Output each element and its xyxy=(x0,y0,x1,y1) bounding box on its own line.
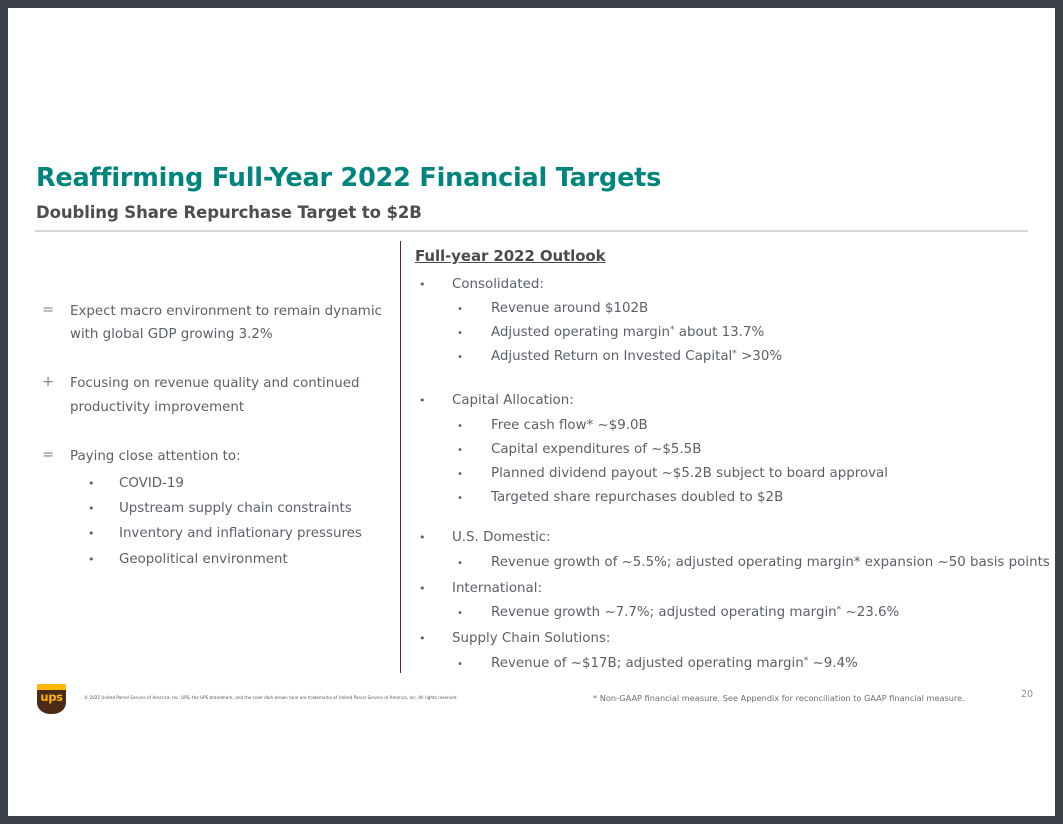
list-item: Upstream supply chain constraints xyxy=(88,499,394,520)
copyright-notice: © 2022 United Parcel Service of America,… xyxy=(84,695,458,700)
bullet-dot-icon xyxy=(453,608,491,619)
list-item: Capital expenditures of ~$5.5B xyxy=(453,439,1051,460)
equals-marker-icon: = xyxy=(36,445,70,467)
list-item-label: Capital expenditures of ~$5.5B xyxy=(491,439,1051,460)
spacer xyxy=(415,510,1051,527)
equals-marker-icon: = xyxy=(36,300,70,322)
list-item: Revenue growth ~7.7%; adjusted operating… xyxy=(453,602,1051,623)
group-supply-chain-solutions: Supply Chain Solutions: Revenue of ~$17B… xyxy=(415,628,1051,674)
spacer xyxy=(415,370,1051,390)
list-item: Revenue of ~$17B; adjusted operating mar… xyxy=(453,653,1051,674)
list-item: + Focusing on revenue quality and contin… xyxy=(36,372,394,418)
left-column: = Expect macro environment to remain dyn… xyxy=(36,300,394,575)
bullet-dot-icon xyxy=(453,304,491,315)
header-divider xyxy=(35,230,1028,232)
left-sub-list: COVID-19 Upstream supply chain constrain… xyxy=(88,474,394,571)
outlook-heading: Full-year 2022 Outlook xyxy=(415,247,605,265)
list-item: Geopolitical environment xyxy=(88,550,394,571)
list-item: Adjusted operating margin* about 13.7% xyxy=(453,322,1051,343)
list-item-label: Inventory and inflationary pressures xyxy=(119,524,394,545)
slide-canvas: Reaffirming Full-Year 2022 Financial Tar… xyxy=(8,8,1055,816)
group-consolidated: Consolidated: Revenue around $102B Adjus… xyxy=(415,274,1051,368)
plus-marker-icon: + xyxy=(36,372,70,394)
list-item-label: Paying close attention to: xyxy=(70,445,394,468)
bullet-dot-icon xyxy=(88,476,119,493)
list-item-label: Free cash flow* ~$9.0B xyxy=(491,415,1051,436)
list-item-label: Adjusted operating margin* about 13.7% xyxy=(491,322,1051,343)
list-item-label: Focusing on revenue quality and continue… xyxy=(70,372,394,418)
bullet-dot-icon xyxy=(453,421,491,432)
group-label: Capital Allocation: xyxy=(452,390,1051,411)
bullet-dot-icon xyxy=(453,659,491,670)
list-item-label: Expect macro environment to remain dynam… xyxy=(70,300,394,346)
group-label: Consolidated: xyxy=(452,274,1051,295)
bullet-dot-icon xyxy=(453,493,491,504)
list-item: Revenue growth of ~5.5%; adjusted operat… xyxy=(453,552,1051,573)
list-item: Inventory and inflationary pressures xyxy=(88,524,394,545)
list-item-label: Revenue of ~$17B; adjusted operating mar… xyxy=(491,653,1051,674)
list-item: Revenue around $102B xyxy=(453,298,1051,319)
bullet-dot-icon xyxy=(88,526,119,543)
list-item: Targeted share repurchases doubled to $2… xyxy=(453,487,1051,508)
bullet-dot-icon xyxy=(453,558,491,569)
group-label: U.S. Domestic: xyxy=(452,527,1051,548)
ups-logo-crown xyxy=(37,684,66,690)
bullet-dot-icon xyxy=(453,352,491,363)
bullet-dot-icon xyxy=(415,278,452,291)
bullet-dot-icon xyxy=(453,328,491,339)
list-item-label: Planned dividend payout ~$5.2B subject t… xyxy=(491,463,1051,484)
list-item-label: Revenue growth of ~5.5%; adjusted operat… xyxy=(491,552,1051,573)
group-label: Supply Chain Solutions: xyxy=(452,628,1051,649)
right-column: Full-year 2022 Outlook Consolidated: Rev… xyxy=(415,246,1051,677)
ups-logo-icon: ups xyxy=(37,684,66,714)
list-item: = Expect macro environment to remain dyn… xyxy=(36,300,394,346)
page-subtitle: Doubling Share Repurchase Target to $2B xyxy=(36,203,422,222)
page-number: 20 xyxy=(1021,689,1033,700)
bullet-dot-icon xyxy=(415,531,452,544)
bullet-dot-icon xyxy=(415,632,452,645)
list-item-label: Upstream supply chain constraints xyxy=(119,499,394,520)
bullet-dot-icon xyxy=(88,501,119,518)
bullet-dot-icon xyxy=(415,582,452,595)
bullet-dot-icon xyxy=(453,469,491,480)
list-item: COVID-19 xyxy=(88,474,394,495)
list-item: International: xyxy=(415,578,1051,599)
list-item-label: Adjusted Return on Invested Capital* >30… xyxy=(491,346,1051,367)
ups-logo-wordmark: ups xyxy=(37,692,66,704)
group-international: International: Revenue growth ~7.7%; adj… xyxy=(415,578,1051,624)
list-item: Free cash flow* ~$9.0B xyxy=(453,415,1051,436)
list-item: Consolidated: xyxy=(415,274,1051,295)
non-gaap-footnote: * Non-GAAP financial measure. See Append… xyxy=(593,693,965,703)
list-item: Planned dividend payout ~$5.2B subject t… xyxy=(453,463,1051,484)
bullet-dot-icon xyxy=(88,552,119,569)
group-label: International: xyxy=(452,578,1051,599)
page-title: Reaffirming Full-Year 2022 Financial Tar… xyxy=(36,163,661,193)
list-item: U.S. Domestic: xyxy=(415,527,1051,548)
list-item-label: Geopolitical environment xyxy=(119,550,394,571)
list-item-label: Revenue around $102B xyxy=(491,298,1051,319)
group-us-domestic: U.S. Domestic: Revenue growth of ~5.5%; … xyxy=(415,527,1051,573)
list-item-label: Targeted share repurchases doubled to $2… xyxy=(491,487,1051,508)
list-item: Supply Chain Solutions: xyxy=(415,628,1051,649)
list-item-label: COVID-19 xyxy=(119,474,394,495)
list-item: Adjusted Return on Invested Capital* >30… xyxy=(453,346,1051,367)
bullet-dot-icon xyxy=(453,445,491,456)
column-divider xyxy=(400,241,401,673)
list-item: Capital Allocation: xyxy=(415,390,1051,411)
group-capital-allocation: Capital Allocation: Free cash flow* ~$9.… xyxy=(415,390,1051,508)
list-item-label: Revenue growth ~7.7%; adjusted operating… xyxy=(491,602,1051,623)
bullet-dot-icon xyxy=(415,394,452,407)
list-item: = Paying close attention to: xyxy=(36,445,394,468)
